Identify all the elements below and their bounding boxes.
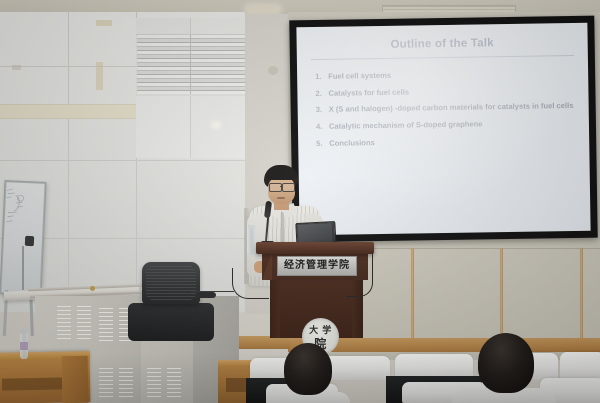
slide-outline-list: 1. Fuel cell systems 2. Catalysts for fu… (315, 68, 577, 149)
cabinet-louver (119, 368, 133, 400)
slide-item-text: Fuel cell systems (328, 68, 576, 82)
cabinet-louver (147, 368, 161, 400)
wall-mark (96, 20, 112, 26)
cabinet-louver (77, 306, 91, 340)
cable (232, 268, 269, 299)
desk-shelf (2, 377, 68, 390)
slide-item-number: 5. (316, 139, 329, 149)
wall-seam (68, 12, 69, 312)
slide-list-item: 1. Fuel cell systems (315, 68, 576, 82)
slide-item-text: Catalytic mechanism of S-doped graphene (329, 118, 577, 132)
wall-mark (268, 66, 278, 75)
slide-list-item: 4. Catalytic mechanism of S-doped graphe… (316, 118, 577, 132)
wall-glare (208, 118, 224, 132)
slide-list-item: 3. X (S and halogen) -doped carbon mater… (316, 101, 577, 115)
lecture-hall-photo: Outline of the Talk 1. Fuel cell systems… (0, 0, 600, 403)
presenter-hair-front (266, 168, 296, 180)
slide-item-number: 4. (316, 122, 329, 132)
slide-list-item: 5. Conclusions (316, 135, 577, 149)
presenter-mouth (277, 197, 285, 199)
vent-upper-left-panel (136, 18, 191, 35)
wall-wood-divider (411, 248, 414, 338)
audience-person-head (478, 333, 534, 393)
cabinet-louver (99, 308, 113, 342)
slide-item-text: X (S and halogen) -doped carbon material… (329, 101, 577, 115)
eyeglasses-bridge (280, 186, 283, 187)
cabinet-louver (167, 368, 181, 400)
water-bottle-label (20, 342, 28, 350)
audience-person-head (284, 343, 332, 395)
wall-wood-divider (580, 248, 583, 338)
slide-item-number: 2. (315, 89, 328, 99)
eyeglasses-icon (282, 183, 295, 192)
water-bottle-cap (248, 225, 255, 229)
podium-nameplate-text: 经济管理学院 (284, 261, 350, 271)
office-chair-seat (128, 303, 214, 341)
cabinet-louver (57, 306, 71, 340)
wall-vent-assembly (136, 18, 246, 158)
cable (346, 252, 373, 297)
audience-chair-cover (560, 352, 600, 380)
desk-side-panel (62, 356, 89, 403)
slide-title: Outline of the Talk (309, 36, 576, 52)
vent-lower-left-panel (136, 96, 191, 158)
vent-louver-slats (137, 35, 245, 94)
whiteboard-writing (2, 184, 30, 231)
slide-item-text: Catalysts for fuel cells (328, 85, 576, 99)
slide-title-rule (311, 55, 574, 60)
cable (186, 291, 234, 302)
rail-knob (90, 286, 95, 291)
seal-text-top: 大 学 (302, 327, 339, 336)
wall-seam (0, 160, 245, 161)
presentation-slide: Outline of the Talk 1. Fuel cell systems… (296, 23, 590, 236)
whiteboard-clamp (25, 236, 34, 246)
eyeglasses-icon (269, 183, 282, 192)
water-bottle-cap (21, 329, 27, 334)
cabinet-louver (99, 368, 113, 400)
whiteboard-post (22, 246, 24, 290)
wall-mark (12, 65, 21, 70)
vent-slat-divider (190, 35, 191, 94)
projection-screen-surface: Outline of the Talk 1. Fuel cell systems… (296, 23, 590, 236)
slide-list-item: 2. Catalysts for fuel cells (315, 85, 576, 99)
slide-item-number: 1. (315, 72, 328, 82)
wall-wood-divider (500, 248, 503, 338)
wall-accent-band (0, 104, 139, 119)
podium-nameplate: 经济管理学院 (277, 256, 357, 276)
ceiling-light-fixture (246, 6, 280, 13)
projection-screen-frame: Outline of the Talk 1. Fuel cell systems… (289, 16, 597, 243)
slide-item-text: Conclusions (329, 135, 577, 149)
wall-mark (96, 62, 103, 90)
vent-upper-right-panel (191, 18, 246, 35)
water-bottle (247, 228, 256, 255)
slide-item-number: 3. (316, 105, 329, 115)
